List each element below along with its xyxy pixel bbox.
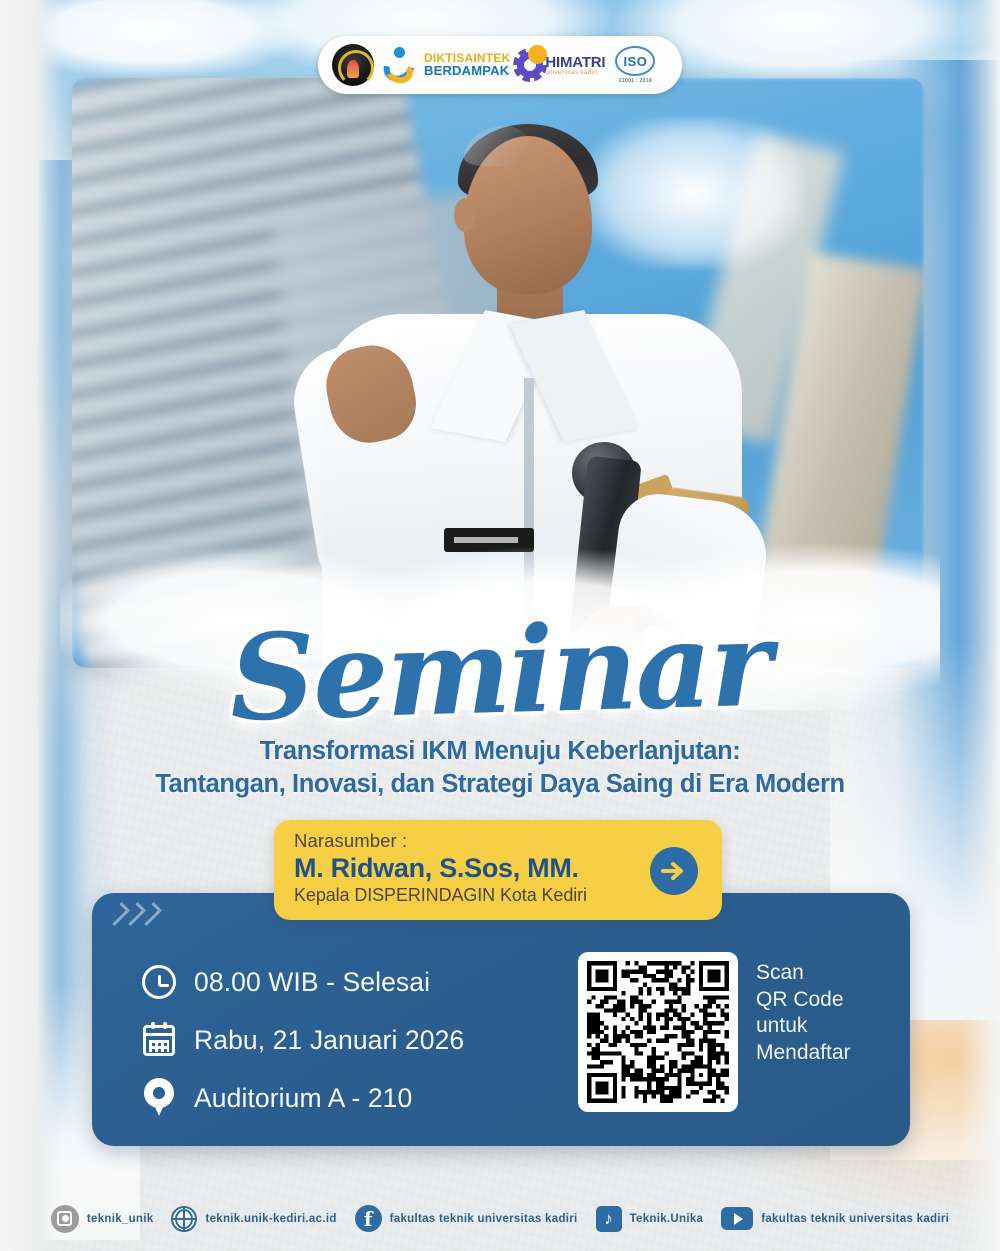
footer-item-youtube[interactable]: fakultas teknik universitas kadiri xyxy=(721,1207,949,1230)
subtitle-line-1: Transformasi IKM Menuju Keberlanjutan: xyxy=(0,735,1000,768)
event-location: Auditorium A - 210 xyxy=(194,1083,412,1114)
calendar-icon xyxy=(136,1025,182,1056)
social-media-footer: teknik_unik teknik.unik-kediri.ac.id f f… xyxy=(0,1186,1000,1251)
footer-item-tiktok[interactable]: ♪ Teknik.Unika xyxy=(596,1206,704,1232)
subtitle-line-2: Tantangan, Inovasi, dan Strategi Daya Sa… xyxy=(0,768,1000,801)
qr-code-icon[interactable] xyxy=(578,952,738,1112)
clock-icon xyxy=(136,965,182,999)
qr-line-3: untuk xyxy=(756,1013,851,1040)
website-url: teknik.unik-kediri.ac.id xyxy=(205,1213,336,1225)
speaker-hair-highlight xyxy=(464,126,534,166)
footer-item-facebook[interactable]: f fakultas teknik universitas kadiri xyxy=(355,1205,578,1232)
gear-icon xyxy=(517,52,543,78)
iso-subtitle: 21001 : 2018 xyxy=(619,78,652,84)
tiktok-icon[interactable]: ♪ xyxy=(596,1206,622,1232)
youtube-icon[interactable] xyxy=(721,1207,753,1230)
universitas-kadiri-crest-icon xyxy=(332,44,374,86)
iso-certification-icon: ISO 21001 : 2018 xyxy=(612,42,658,88)
seminar-poster: DIKTISAINTEK BERDAMPAK HIMATRI universit… xyxy=(0,0,1000,1251)
speaker-card[interactable]: Narasumber : M. Ridwan, S.Sos, MM. Kepal… xyxy=(274,820,722,920)
qr-registration-block[interactable]: Scan QR Code untuk Mendaftar xyxy=(578,952,851,1112)
himatri-logo: HIMATRI universitas kadiri xyxy=(517,52,605,78)
event-time: 08.00 WIB - Selesai xyxy=(194,967,430,998)
instagram-icon[interactable] xyxy=(51,1205,79,1233)
qr-instruction-text: Scan QR Code untuk Mendaftar xyxy=(756,952,851,1067)
facebook-icon[interactable]: f xyxy=(355,1205,382,1232)
event-date: Rabu, 21 Januari 2026 xyxy=(194,1025,464,1056)
gear-small-icon xyxy=(530,47,545,62)
detail-row-date: Rabu, 21 Januari 2026 xyxy=(136,1013,464,1067)
qr-line-2: QR Code xyxy=(756,987,851,1014)
instagram-handle: teknik_unik xyxy=(87,1213,154,1225)
diktisaintek-icon xyxy=(381,45,417,85)
iso-title: ISO xyxy=(623,54,647,69)
subtitle: Transformasi IKM Menuju Keberlanjutan: T… xyxy=(0,735,1000,800)
speaker-role: Kepala DISPERINDAGIN Kota Kediri xyxy=(294,885,702,906)
diktisaintek-line2: BERDAMPAK xyxy=(424,64,510,77)
footer-item-instagram[interactable]: teknik_unik xyxy=(51,1205,154,1233)
arrow-right-icon[interactable] xyxy=(650,847,698,895)
tiktok-handle: Teknik.Unika xyxy=(630,1213,704,1225)
website-icon[interactable] xyxy=(171,1206,197,1232)
diktisaintek-label: DIKTISAINTEK BERDAMPAK xyxy=(424,52,510,77)
event-details-list: 08.00 WIB - Selesai Rabu, 21 Januari 202… xyxy=(136,955,464,1129)
logo-bar: DIKTISAINTEK BERDAMPAK HIMATRI universit… xyxy=(318,36,682,94)
himatri-subtitle: universitas kadiri xyxy=(545,70,605,76)
speaker-photo xyxy=(72,78,924,668)
speaker-name-badge xyxy=(444,528,534,552)
speaker-figure xyxy=(72,78,924,668)
speaker-label: Narasumber : xyxy=(294,830,702,852)
location-pin-icon xyxy=(136,1078,182,1118)
footer-item-website[interactable]: teknik.unik-kediri.ac.id xyxy=(171,1206,336,1232)
youtube-handle: fakultas teknik universitas kadiri xyxy=(761,1213,949,1225)
qr-line-4: Mendaftar xyxy=(756,1040,851,1067)
speaker-name: M. Ridwan, S.Sos, MM. xyxy=(294,853,702,884)
speaker-ear xyxy=(454,198,476,232)
qr-line-1: Scan xyxy=(756,960,851,987)
detail-row-location: Auditorium A - 210 xyxy=(136,1071,464,1125)
facebook-handle: fakultas teknik universitas kadiri xyxy=(390,1213,578,1225)
himatri-title: HIMATRI xyxy=(545,55,605,70)
detail-row-time: 08.00 WIB - Selesai xyxy=(136,955,464,1009)
chevron-decoration xyxy=(110,897,180,931)
